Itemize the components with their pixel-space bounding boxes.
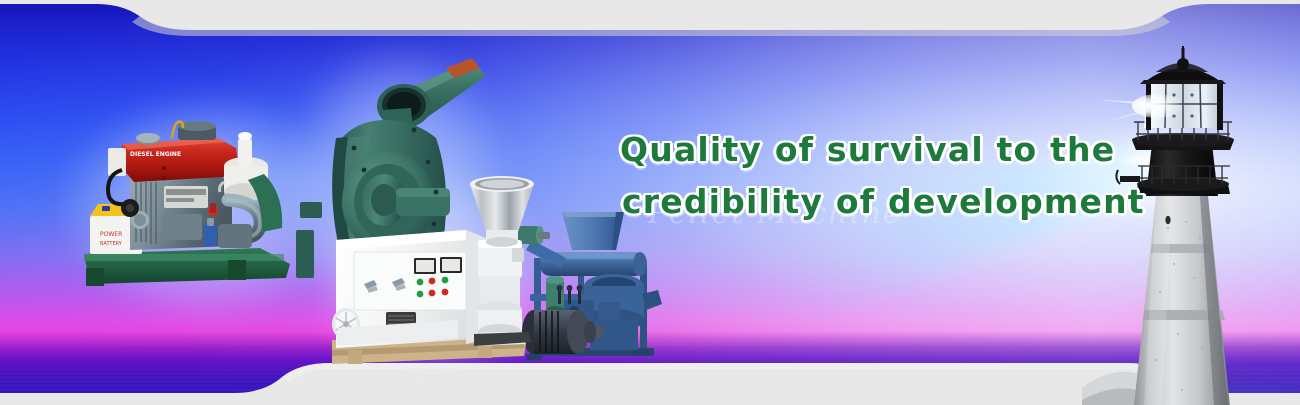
headline-block: Quality of survival to the credibility o… (620, 124, 1090, 228)
headline-line-1: Quality of survival to the (620, 124, 1090, 176)
top-frame-swoosh (0, 0, 1300, 46)
product-diesel-engine: POWER BATTERY (78, 108, 318, 298)
product-lighthouse (1082, 48, 1282, 405)
product-pellet-mill (328, 178, 536, 370)
promotional-banner: POWER BATTERY (0, 0, 1300, 405)
svg-text:POWER: POWER (100, 231, 122, 238)
headline-line-2: credibility of development (622, 176, 1090, 228)
svg-text:DIESEL ENGINE: DIESEL ENGINE (130, 151, 181, 158)
svg-text:BATTERY: BATTERY (100, 241, 123, 247)
